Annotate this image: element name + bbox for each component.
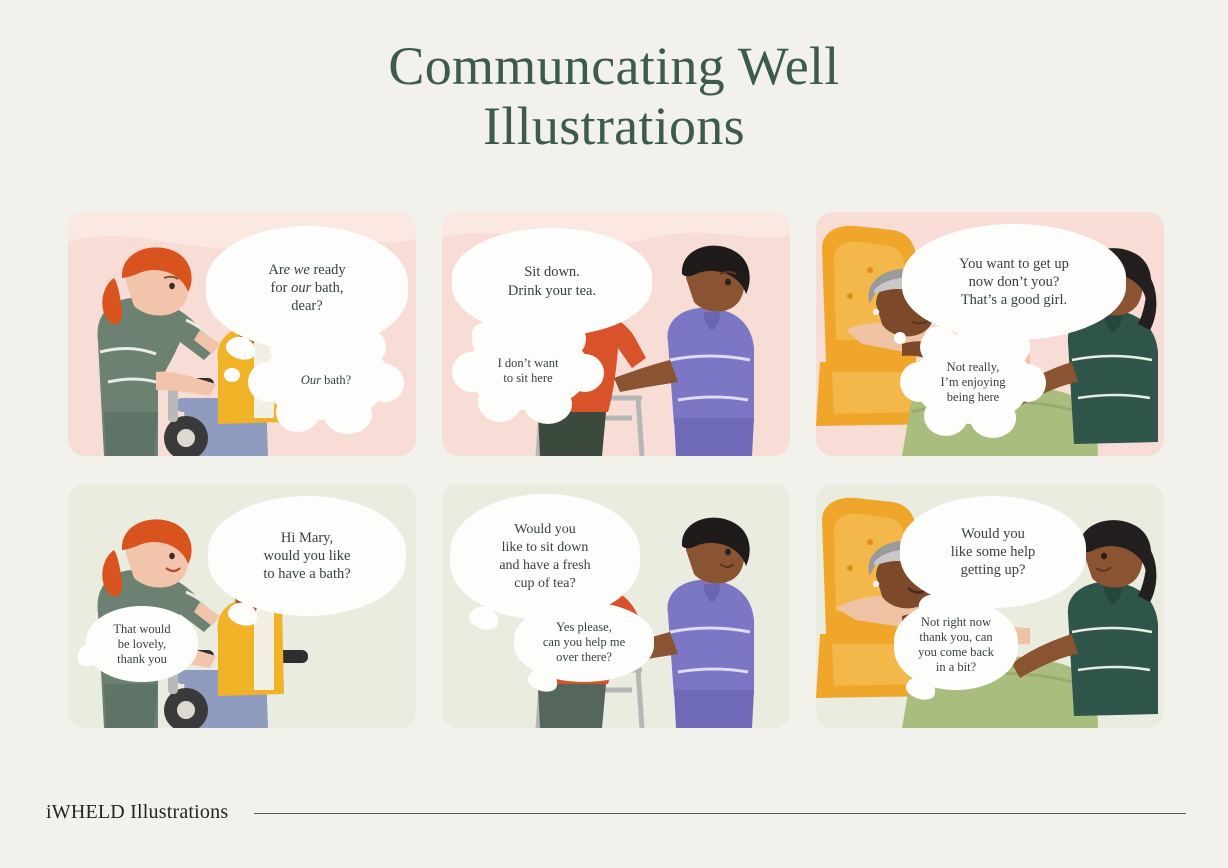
illustration-panel-1[interactable]: Are we ready for our bath, dear? Our bat… xyxy=(68,212,416,456)
page-title: Communcating Well Illustrations xyxy=(0,36,1228,156)
panel-6-reply-bubble: Not right now thank you, can you come ba… xyxy=(894,600,1018,690)
panel-4-reply-bubble: That would be lovely, thank you xyxy=(86,606,198,682)
panel-1-thought-cloud: Our bath? xyxy=(262,340,390,420)
panel-3-thought-text: Not really, I’m enjoying being here xyxy=(914,360,1032,405)
panel-2-thought-text: I don’t want to sit here xyxy=(466,356,590,386)
panel-1-speech-text: Are we ready for our bath, dear? xyxy=(206,261,408,315)
footer-divider xyxy=(254,813,1186,814)
panel-4-speech-text: Hi Mary, would you like to have a bath? xyxy=(208,529,406,583)
panel-4-reply-text: That would be lovely, thank you xyxy=(86,622,198,667)
footer-brand: iWHELD Illustrations xyxy=(46,801,228,824)
panel-6-reply-text: Not right now thank you, can you come ba… xyxy=(894,615,1018,675)
illustration-panel-3[interactable]: You want to get up now don’t you? That’s… xyxy=(816,212,1164,456)
footer: iWHELD Illustrations xyxy=(46,801,1186,824)
panel-3-speech-bubble: You want to get up now don’t you? That’s… xyxy=(902,224,1126,340)
panel-6-speech-text: Would you like some help getting up? xyxy=(900,525,1086,579)
panel-6-speech-bubble: Would you like some help getting up? xyxy=(900,496,1086,608)
illustration-panel-4[interactable]: Hi Mary, would you like to have a bath? … xyxy=(68,484,416,728)
panel-5-speech-text: Would you like to sit down and have a fr… xyxy=(450,521,640,593)
panel-1-thought-text: Our bath? xyxy=(262,373,390,388)
panel-5-reply-text: Yes please, can you help me over there? xyxy=(514,620,654,665)
illustration-grid: Are we ready for our bath, dear? Our bat… xyxy=(68,212,1160,728)
page-title-line-2: Illustrations xyxy=(0,96,1228,156)
panel-4-speech-bubble: Hi Mary, would you like to have a bath? xyxy=(208,496,406,616)
panel-3-thought-cloud: Not really, I’m enjoying being here xyxy=(914,340,1032,424)
illustration-panel-6[interactable]: Would you like some help getting up? Not… xyxy=(816,484,1164,728)
poster-page: Communcating Well Illustrations xyxy=(0,0,1228,868)
panel-5-reply-bubble: Yes please, can you help me over there? xyxy=(514,602,654,682)
panel-2-speech-text: Sit down. Drink your tea. xyxy=(452,263,652,301)
panel-3-speech-text: You want to get up now don’t you? That’s… xyxy=(902,255,1126,309)
panel-2-speech-bubble: Sit down. Drink your tea. xyxy=(452,228,652,336)
illustration-panel-5[interactable]: Would you like to sit down and have a fr… xyxy=(442,484,790,728)
panel-5-speech-bubble: Would you like to sit down and have a fr… xyxy=(450,494,640,620)
illustration-panel-2[interactable]: Sit down. Drink your tea. I don’t want t… xyxy=(442,212,790,456)
page-title-line-1: Communcating Well xyxy=(388,36,839,96)
